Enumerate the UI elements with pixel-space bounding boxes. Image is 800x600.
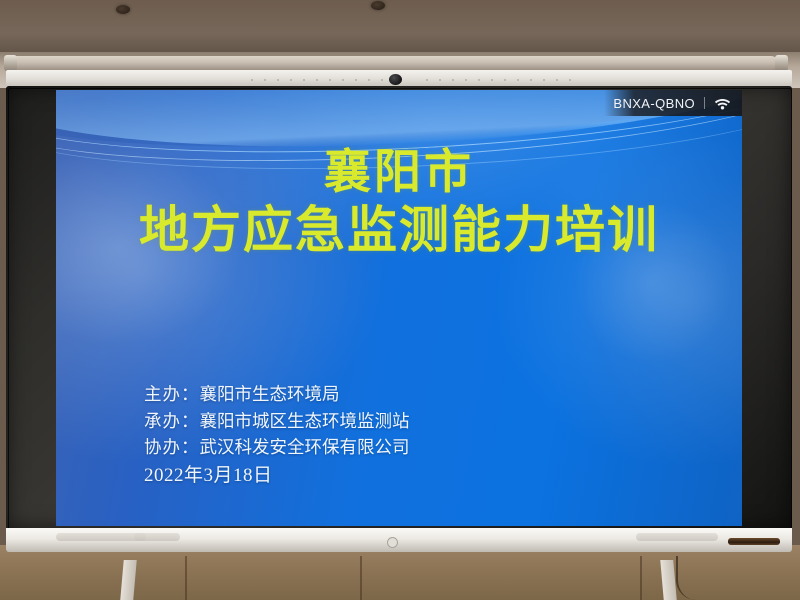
ceiling-light-icon (371, 1, 385, 10)
display-screen[interactable]: 襄阳市 地方应急监测能力培训 主办：襄阳市生态环境局 承办：襄阳市城区生态环境监… (56, 90, 742, 526)
camera-icon (389, 74, 402, 85)
photo-scene: 襄阳市 地方应急监测能力培训 主办：襄阳市生态环境局 承办：襄阳市城区生态环境监… (0, 0, 800, 600)
presentation-slide: 襄阳市 地方应急监测能力培训 主办：襄阳市生态环境局 承办：襄阳市城区生态环境监… (56, 90, 742, 526)
microphone-array-icon (251, 79, 396, 81)
display-bottom-bezel (6, 528, 792, 552)
credit-row-coorganizer: 协办：武汉科发安全环保有限公司 (144, 435, 410, 462)
ceiling (0, 0, 800, 60)
credit-value: 襄阳市生态环境局 (200, 385, 340, 405)
power-button[interactable] (387, 537, 398, 548)
projection-screen-end-cap (4, 55, 17, 71)
speaker-grille-icon (636, 533, 718, 541)
slide-title-block: 襄阳市 地方应急监测能力培训 (56, 148, 742, 257)
display-top-bezel (6, 70, 792, 87)
wall-panel-seam (185, 556, 187, 600)
wifi-icon (714, 97, 731, 110)
interactive-display[interactable]: 襄阳市 地方应急监测能力培训 主办：襄阳市生态环境局 承办：襄阳市城区生态环境监… (6, 70, 792, 552)
wifi-status-bar[interactable]: BNXA-QBNO (604, 90, 742, 116)
slide-title-line-1: 襄阳市 (56, 148, 742, 199)
status-divider (704, 97, 705, 109)
wifi-ssid-label: BNXA-QBNO (613, 96, 695, 111)
credit-value: 武汉科发安全环保有限公司 (200, 438, 410, 458)
slide-date: 2022年3月18日 (144, 462, 410, 491)
stylus-pen[interactable] (728, 538, 780, 545)
microphone-array-icon (426, 79, 571, 81)
power-cable (676, 556, 712, 600)
credit-value: 襄阳市城区生态环境监测站 (200, 412, 410, 432)
speaker-grille-icon (56, 533, 146, 541)
speaker-grille-icon (134, 533, 180, 541)
projection-screen-end-cap (775, 55, 788, 71)
wall-panel-seam (360, 556, 362, 600)
credit-row-host: 承办：襄阳市城区生态环境监测站 (144, 409, 410, 436)
retracted-projection-screen (8, 56, 778, 70)
slide-title-line-2: 地方应急监测能力培训 (56, 203, 742, 257)
credit-label: 主办： (144, 385, 200, 405)
credit-label: 协办： (144, 438, 200, 458)
credit-row-organizer: 主办：襄阳市生态环境局 (144, 382, 410, 409)
wall-panel-seam (640, 556, 642, 600)
credit-label: 承办： (144, 412, 200, 432)
ceiling-light-icon (116, 5, 130, 14)
slide-credits-block: 主办：襄阳市生态环境局 承办：襄阳市城区生态环境监测站 协办：武汉科发安全环保有… (144, 382, 410, 491)
